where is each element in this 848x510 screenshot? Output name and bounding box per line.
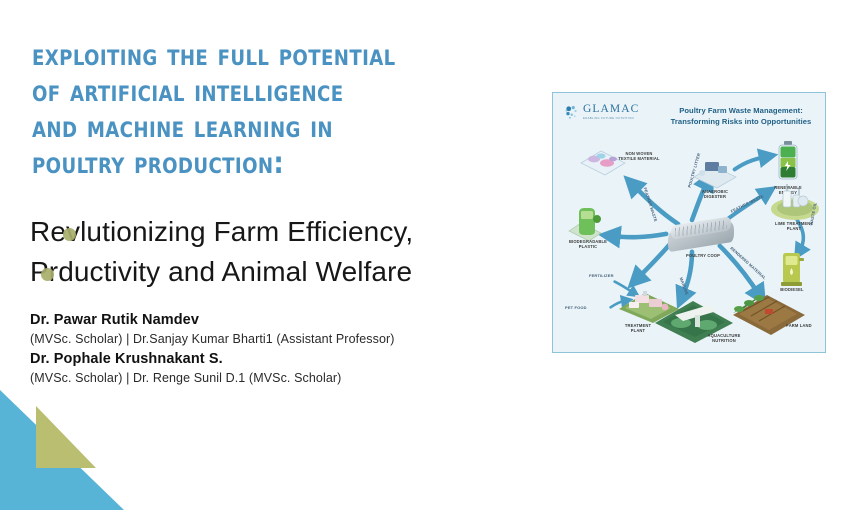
subtitle-line-1: Revlutionizing Farm Efficiency, (30, 212, 550, 252)
author-affiliation-1: (MVSc. Scholar) | Dr.Sanjay Kumar Bharti… (30, 330, 500, 349)
author-name-2: Dr. Pophale Krushnakant S. (30, 349, 500, 369)
subtitle-line-2: Prductivity and Animal Welfare (30, 252, 550, 292)
node-label-non-woven-textile: NON WOVEN TEXTILE MATERIAL (611, 151, 667, 161)
node-label-anaerobic-digester: ANAEROBIC DIGESTER (689, 189, 741, 199)
node-non-woven-textile (577, 143, 629, 184)
node-label-pet-food: PET FOOD (565, 305, 587, 310)
author-name-1: Dr. Pawar Rutik Namdev (30, 310, 500, 330)
node-poultry-coop (668, 221, 734, 251)
node-label-farm-land: FARM LAND (775, 323, 823, 328)
node-label-lime-treatment-plant: LIME TREATMENT PLANT (765, 221, 823, 231)
title-line-1: Exploiting the Full Potential (32, 38, 522, 74)
node-label-biodegradable-plastic: BIODEGRADABLE PLASTIC (559, 239, 617, 249)
node-label-poultry-coop: POULTRY COOP (675, 253, 731, 258)
author-list: Dr. Pawar Rutik Namdev (MVSc. Scholar) |… (30, 310, 500, 388)
subtitle-line-1-suffix: lutionizing Farm Efficiency, (80, 216, 413, 247)
author-affiliation-2: (MVSc. Scholar) | Dr. Renge Sunil D.1 (M… (30, 369, 500, 388)
node-label-fertilizer: FERTILIZER (589, 273, 614, 278)
presentation-slide: Exploiting the Full Potential of Artific… (0, 0, 848, 510)
corner-triangle-olive (36, 406, 96, 468)
title-line-3: and Machine learning in (32, 110, 522, 146)
slide-subtitle: Revlutionizing Farm Efficiency, Prductiv… (30, 212, 550, 292)
slide-title: Exploiting the Full Potential of Artific… (32, 38, 542, 182)
node-farm-land (729, 287, 809, 344)
title-line-2: of Artificial Intelligence (32, 74, 522, 110)
poultry-waste-diagram: GLAMAC ENABLING FUTURE NUTRITION Poultry… (552, 92, 826, 353)
subtitle-line-2-suffix: ductivity and Animal Welfare (58, 256, 412, 287)
title-line-4: Poultry Production: (32, 146, 522, 182)
